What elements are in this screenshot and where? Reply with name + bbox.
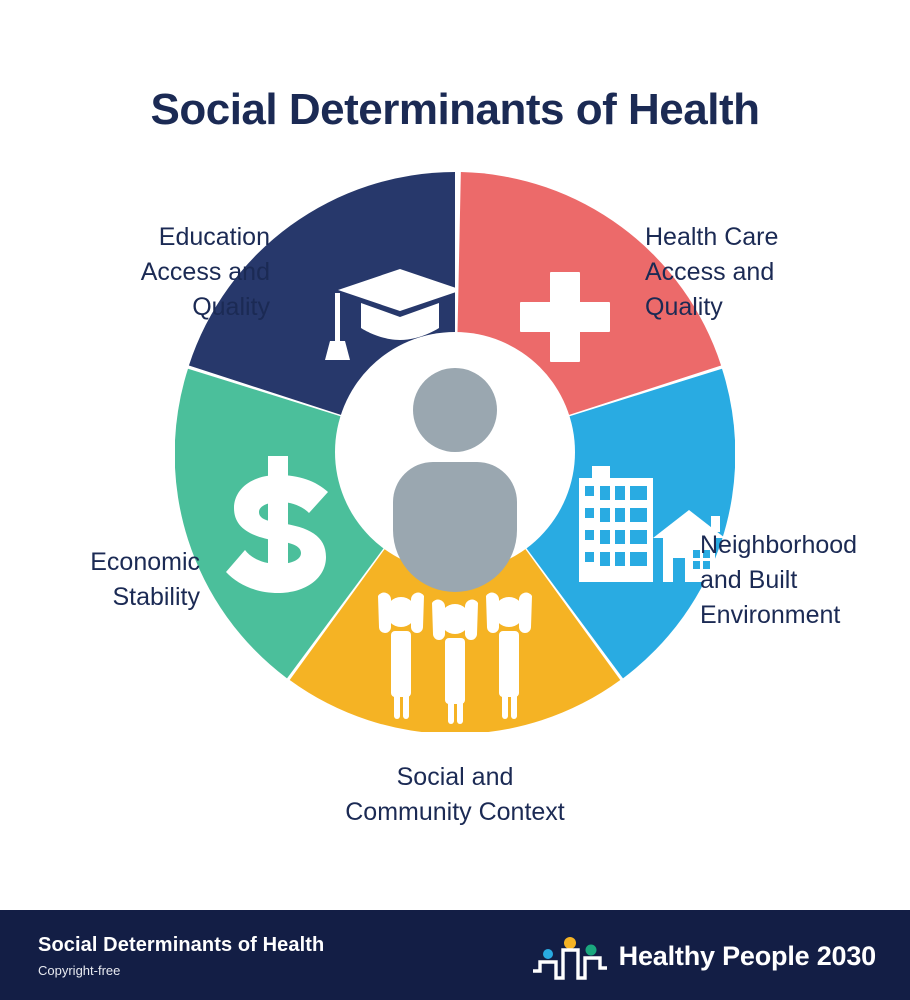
footer-bar: Social Determinants of Health Copyright-… (0, 910, 910, 1000)
brand-lockup[interactable]: Healthy People 2030 (531, 931, 876, 981)
footer-title: Social Determinants of Health (38, 934, 324, 957)
brand-name: Healthy People 2030 (619, 941, 876, 972)
segment-label-education: Education Access and Quality (30, 220, 270, 325)
segment-label-social-community: Social and Community Context (275, 760, 635, 830)
segment-label-neighborhood: Neighborhood and Built Environment (700, 528, 900, 633)
healthy-people-logo-icon (531, 931, 609, 981)
page-title: Social Determinants of Health (0, 86, 910, 134)
footer-subtitle: Copyright-free (38, 963, 120, 978)
segment-label-economic: Economic Stability (10, 545, 200, 615)
segment-label-health-care: Health Care Access and Quality (645, 220, 895, 325)
infographic-page: Social Determinants of Health (0, 0, 910, 1000)
